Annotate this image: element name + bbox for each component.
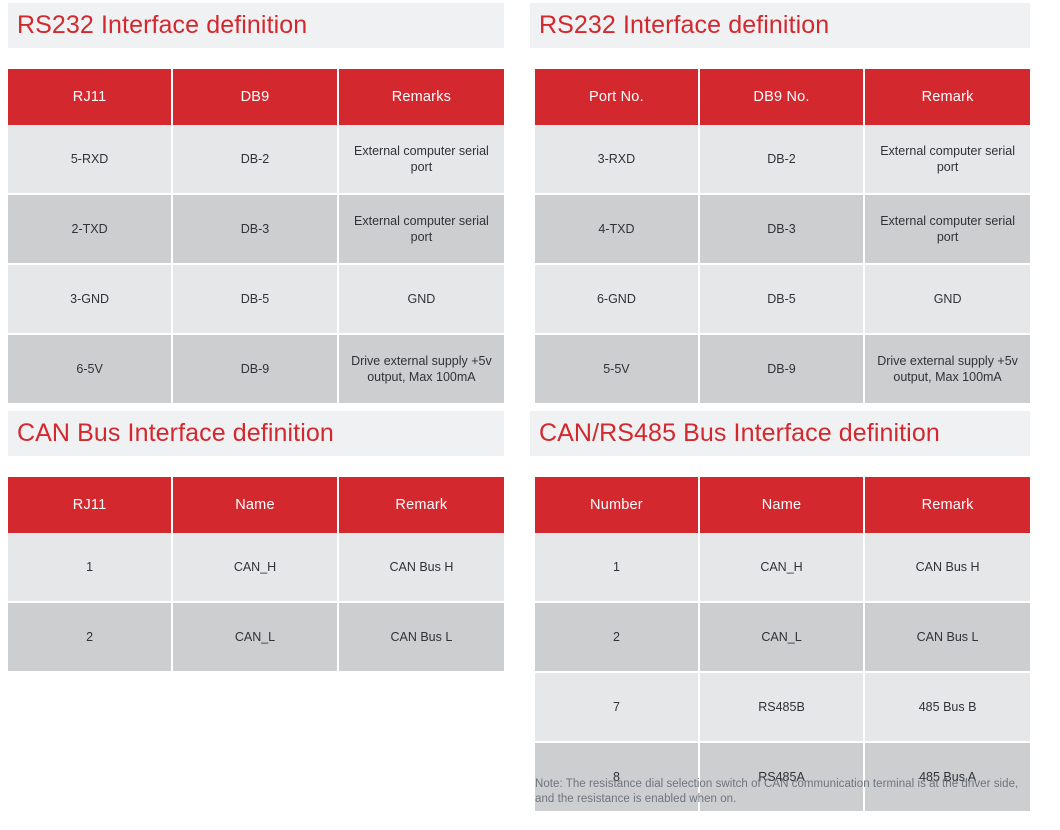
- table-row: 5-5V DB-9 Drive external supply +5v outp…: [535, 334, 1030, 404]
- cell-remark: CAN Bus L: [864, 602, 1030, 672]
- cell-pin: 3-RXD: [535, 125, 699, 194]
- column-header-number: Number: [535, 477, 699, 533]
- section-can-left: CAN Bus Interface definition RJ11 Name R…: [8, 411, 504, 673]
- column-header-db9: DB9: [172, 69, 338, 125]
- cell-remark: External computer serial port: [338, 194, 504, 264]
- table-row: 3-GND DB-5 GND: [8, 264, 504, 334]
- section-title-rs232-left: RS232 Interface definition: [8, 3, 504, 48]
- table-row: 6-5V DB-9 Drive external supply +5v outp…: [8, 334, 504, 404]
- column-header-remark: Remark: [864, 69, 1030, 125]
- cell-remark: Drive external supply +5v output, Max 10…: [338, 334, 504, 404]
- cell-db9: DB-5: [699, 264, 864, 334]
- cell-name: CAN_H: [699, 533, 864, 602]
- cell-number: 1: [535, 533, 699, 602]
- table-row: 1 CAN_H CAN Bus H: [535, 533, 1030, 602]
- table-row: 6-GND DB-5 GND: [535, 264, 1030, 334]
- cell-remark: External computer serial port: [338, 125, 504, 194]
- table-can-right: Number Name Remark 1 CAN_H CAN Bus H 2 C…: [535, 477, 1030, 813]
- cell-pin: 4-TXD: [535, 194, 699, 264]
- cell-remark: CAN Bus L: [338, 602, 504, 672]
- table-header-row: RJ11 DB9 Remarks: [8, 69, 504, 125]
- table-header-row: Number Name Remark: [535, 477, 1030, 533]
- column-header-name: Name: [172, 477, 338, 533]
- cell-pin: 5-RXD: [8, 125, 172, 194]
- column-header-db9-no: DB9 No.: [699, 69, 864, 125]
- column-header-remarks: Remarks: [338, 69, 504, 125]
- cell-db9: DB-5: [172, 264, 338, 334]
- can-terminal-note: Note: The resistance dial selection swit…: [535, 777, 1035, 807]
- column-header-remark: Remark: [864, 477, 1030, 533]
- section-title-can-left: CAN Bus Interface definition: [8, 411, 504, 456]
- section-title-can-right: CAN/RS485 Bus Interface definition: [530, 411, 1030, 456]
- table-row: 2-TXD DB-3 External computer serial port: [8, 194, 504, 264]
- cell-remark: GND: [864, 264, 1030, 334]
- cell-remark: CAN Bus H: [864, 533, 1030, 602]
- cell-remark: External computer serial port: [864, 125, 1030, 194]
- section-can-right: CAN/RS485 Bus Interface definition Numbe…: [530, 411, 1030, 813]
- table-header-row: Port No. DB9 No. Remark: [535, 69, 1030, 125]
- table-header-row: RJ11 Name Remark: [8, 477, 504, 533]
- cell-name: RS485B: [699, 672, 864, 742]
- cell-remark: GND: [338, 264, 504, 334]
- column-header-remark: Remark: [338, 477, 504, 533]
- table-row: 2 CAN_L CAN Bus L: [535, 602, 1030, 672]
- table-row: 3-RXD DB-2 External computer serial port: [535, 125, 1030, 194]
- column-header-rj11: RJ11: [8, 69, 172, 125]
- cell-number: 1: [8, 533, 172, 602]
- cell-remark: External computer serial port: [864, 194, 1030, 264]
- cell-db9: DB-3: [699, 194, 864, 264]
- cell-pin: 5-5V: [535, 334, 699, 404]
- cell-remark: 485 Bus B: [864, 672, 1030, 742]
- column-header-port-no: Port No.: [535, 69, 699, 125]
- table-can-left: RJ11 Name Remark 1 CAN_H CAN Bus H 2 CAN…: [8, 477, 504, 673]
- cell-name: CAN_L: [699, 602, 864, 672]
- table-row: 1 CAN_H CAN Bus H: [8, 533, 504, 602]
- cell-db9: DB-3: [172, 194, 338, 264]
- table-rs232-left: RJ11 DB9 Remarks 5-RXD DB-2 External com…: [8, 69, 504, 405]
- cell-remark: Drive external supply +5v output, Max 10…: [864, 334, 1030, 404]
- table-row: 2 CAN_L CAN Bus L: [8, 602, 504, 672]
- table-rs232-right: Port No. DB9 No. Remark 3-RXD DB-2 Exter…: [535, 69, 1030, 405]
- column-header-rj11: RJ11: [8, 477, 172, 533]
- cell-number: 2: [535, 602, 699, 672]
- cell-remark: CAN Bus H: [338, 533, 504, 602]
- cell-pin: 6-GND: [535, 264, 699, 334]
- cell-db9: DB-9: [699, 334, 864, 404]
- section-rs232-left: RS232 Interface definition RJ11 DB9 Rema…: [8, 3, 504, 405]
- section-rs232-right: RS232 Interface definition Port No. DB9 …: [530, 3, 1030, 405]
- cell-name: CAN_H: [172, 533, 338, 602]
- cell-pin: 2-TXD: [8, 194, 172, 264]
- table-row: 5-RXD DB-2 External computer serial port: [8, 125, 504, 194]
- section-title-rs232-right: RS232 Interface definition: [530, 3, 1030, 48]
- cell-number: 2: [8, 602, 172, 672]
- column-header-name: Name: [699, 477, 864, 533]
- table-row: 7 RS485B 485 Bus B: [535, 672, 1030, 742]
- cell-db9: DB-2: [172, 125, 338, 194]
- cell-pin: 3-GND: [8, 264, 172, 334]
- cell-name: CAN_L: [172, 602, 338, 672]
- cell-db9: DB-2: [699, 125, 864, 194]
- cell-pin: 6-5V: [8, 334, 172, 404]
- cell-db9: DB-9: [172, 334, 338, 404]
- table-row: 4-TXD DB-3 External computer serial port: [535, 194, 1030, 264]
- cell-number: 7: [535, 672, 699, 742]
